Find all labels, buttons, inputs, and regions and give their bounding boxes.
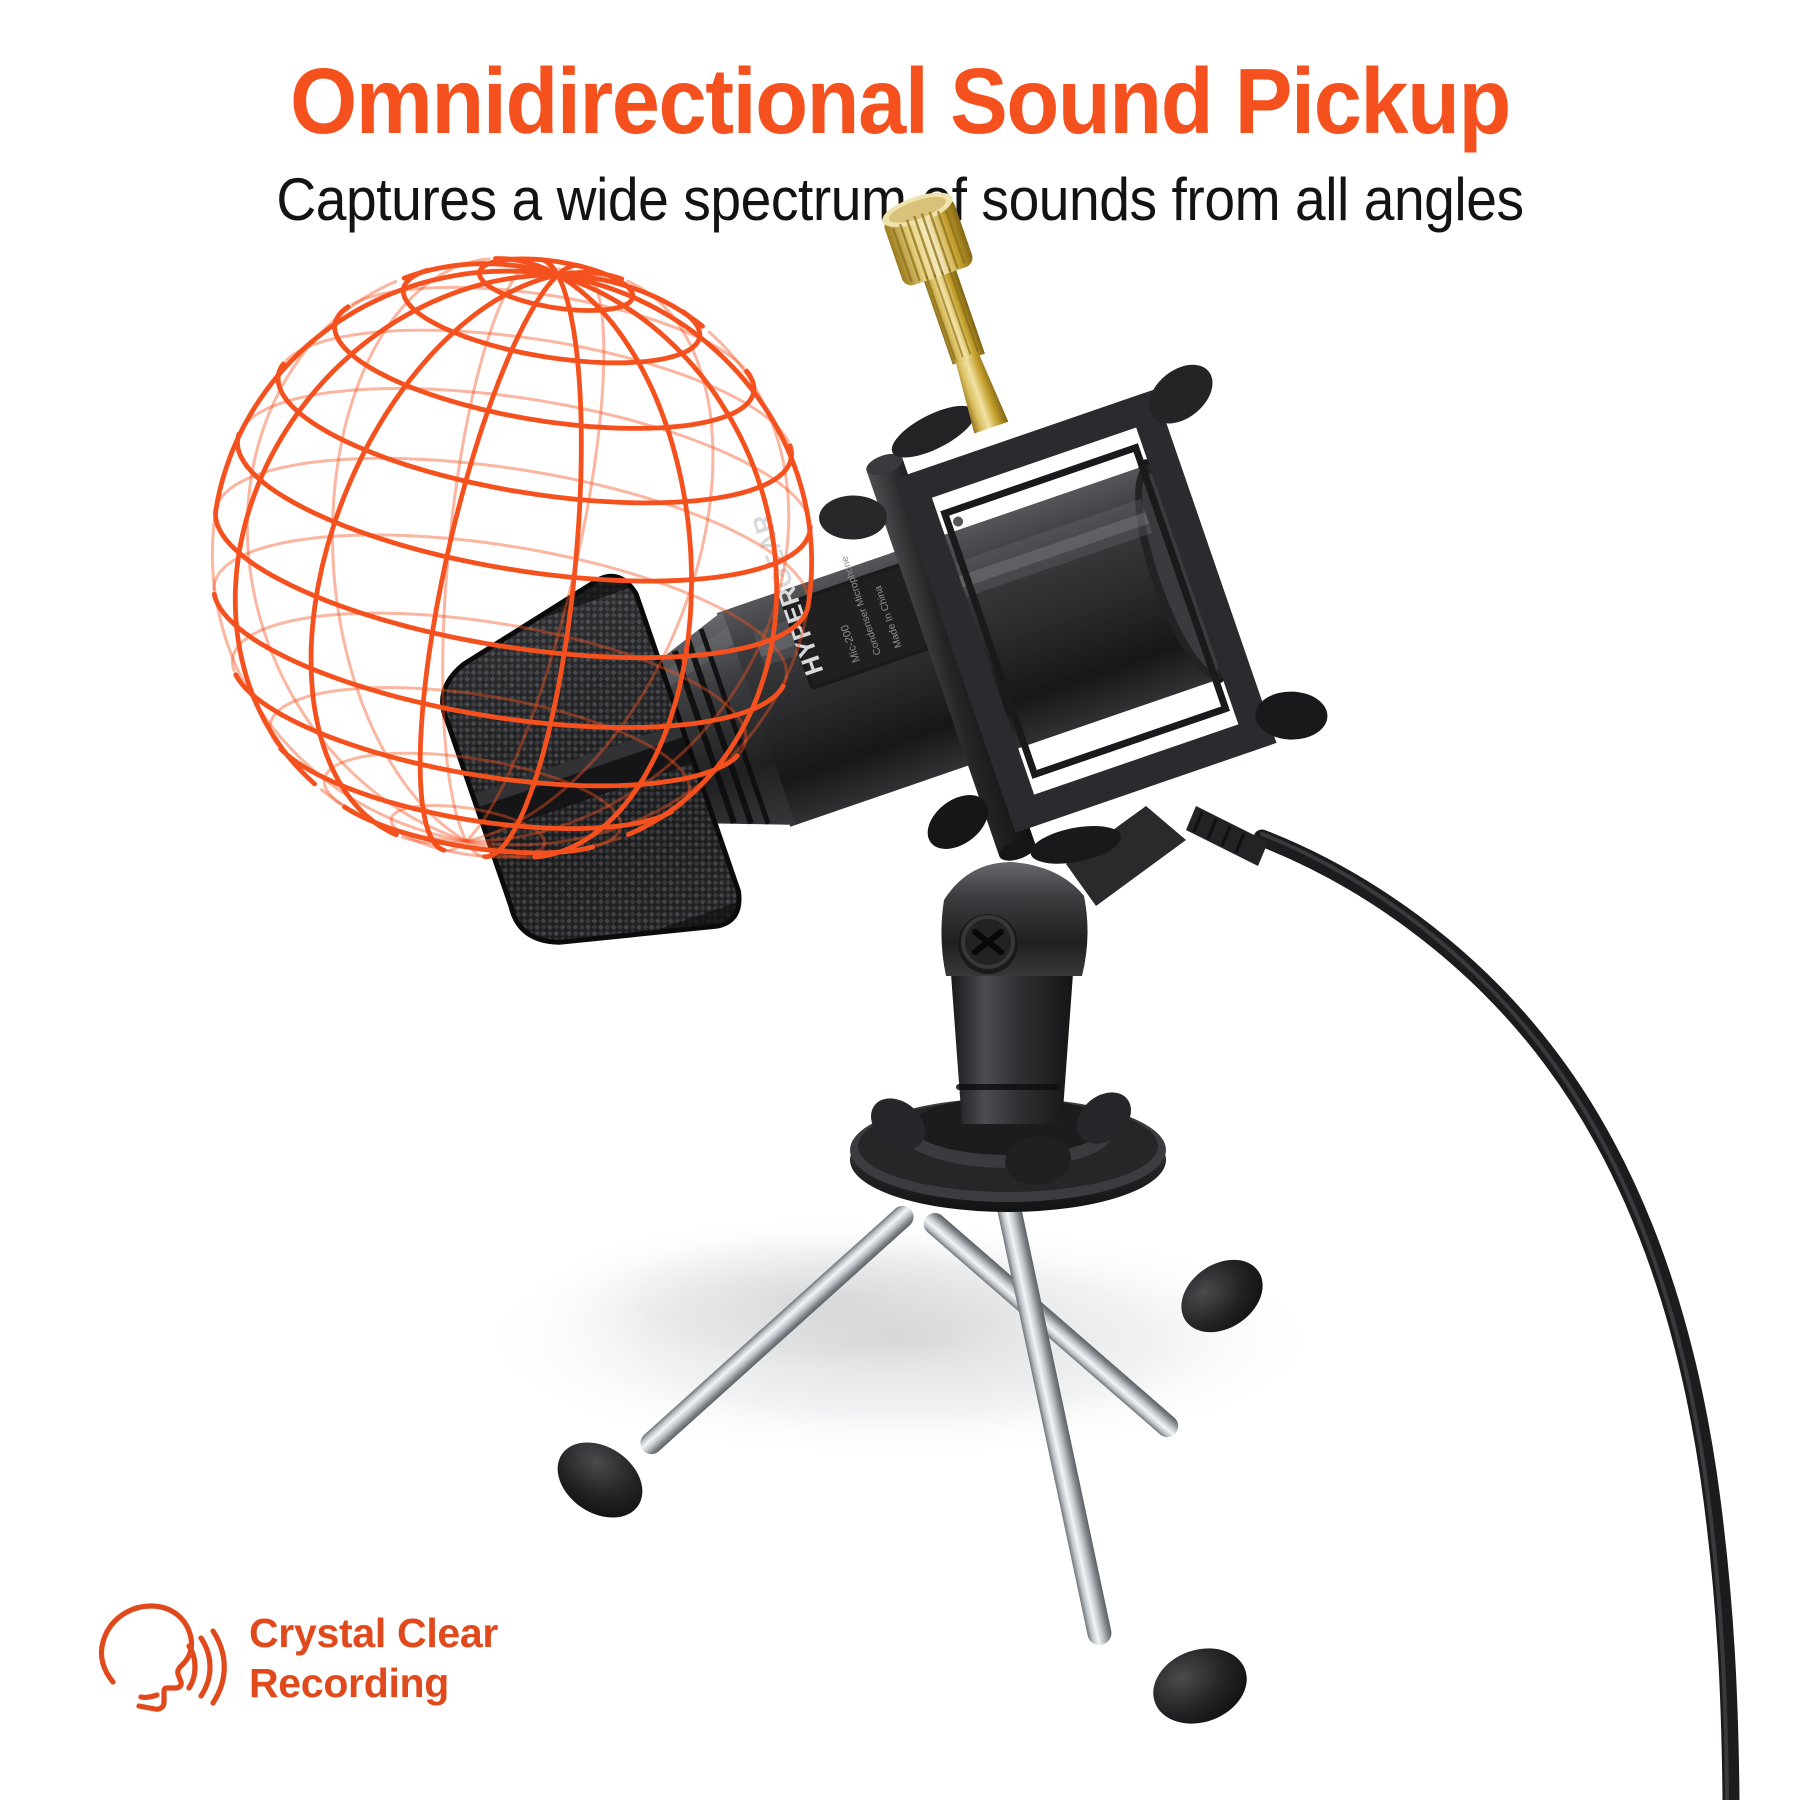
- sphere-grid-line-front: [790, 446, 792, 458]
- head-speaking-soundwaves-icon: [95, 1598, 227, 1718]
- sphere-grid-line-back: [217, 458, 809, 606]
- sphere-grid-line-front: [216, 271, 558, 510]
- feature-badge: Crystal Clear Recording: [95, 1598, 498, 1718]
- badge-line-1: Crystal Clear: [249, 1608, 498, 1658]
- product-illustration: HYPERGEAR Mic-200 Condenser Microphone M…: [0, 0, 1800, 1800]
- badge-text-block: Crystal Clear Recording: [249, 1608, 498, 1708]
- omnidirectional-pickup-sphere: [212, 259, 811, 858]
- product-marketing-image: Omnidirectional Sound Pickup Captures a …: [0, 0, 1800, 1800]
- sphere-grid-line-front: [335, 307, 754, 429]
- stand-column: [950, 960, 1074, 1124]
- badge-line-2: Recording: [249, 1658, 498, 1708]
- audio-cable: [1262, 834, 1731, 1800]
- gold-tension-knob: [878, 185, 1027, 439]
- sphere-grid-line-front: [278, 364, 791, 503]
- pivot-screw: [958, 914, 1018, 974]
- cable-strain-relief: [1186, 806, 1268, 866]
